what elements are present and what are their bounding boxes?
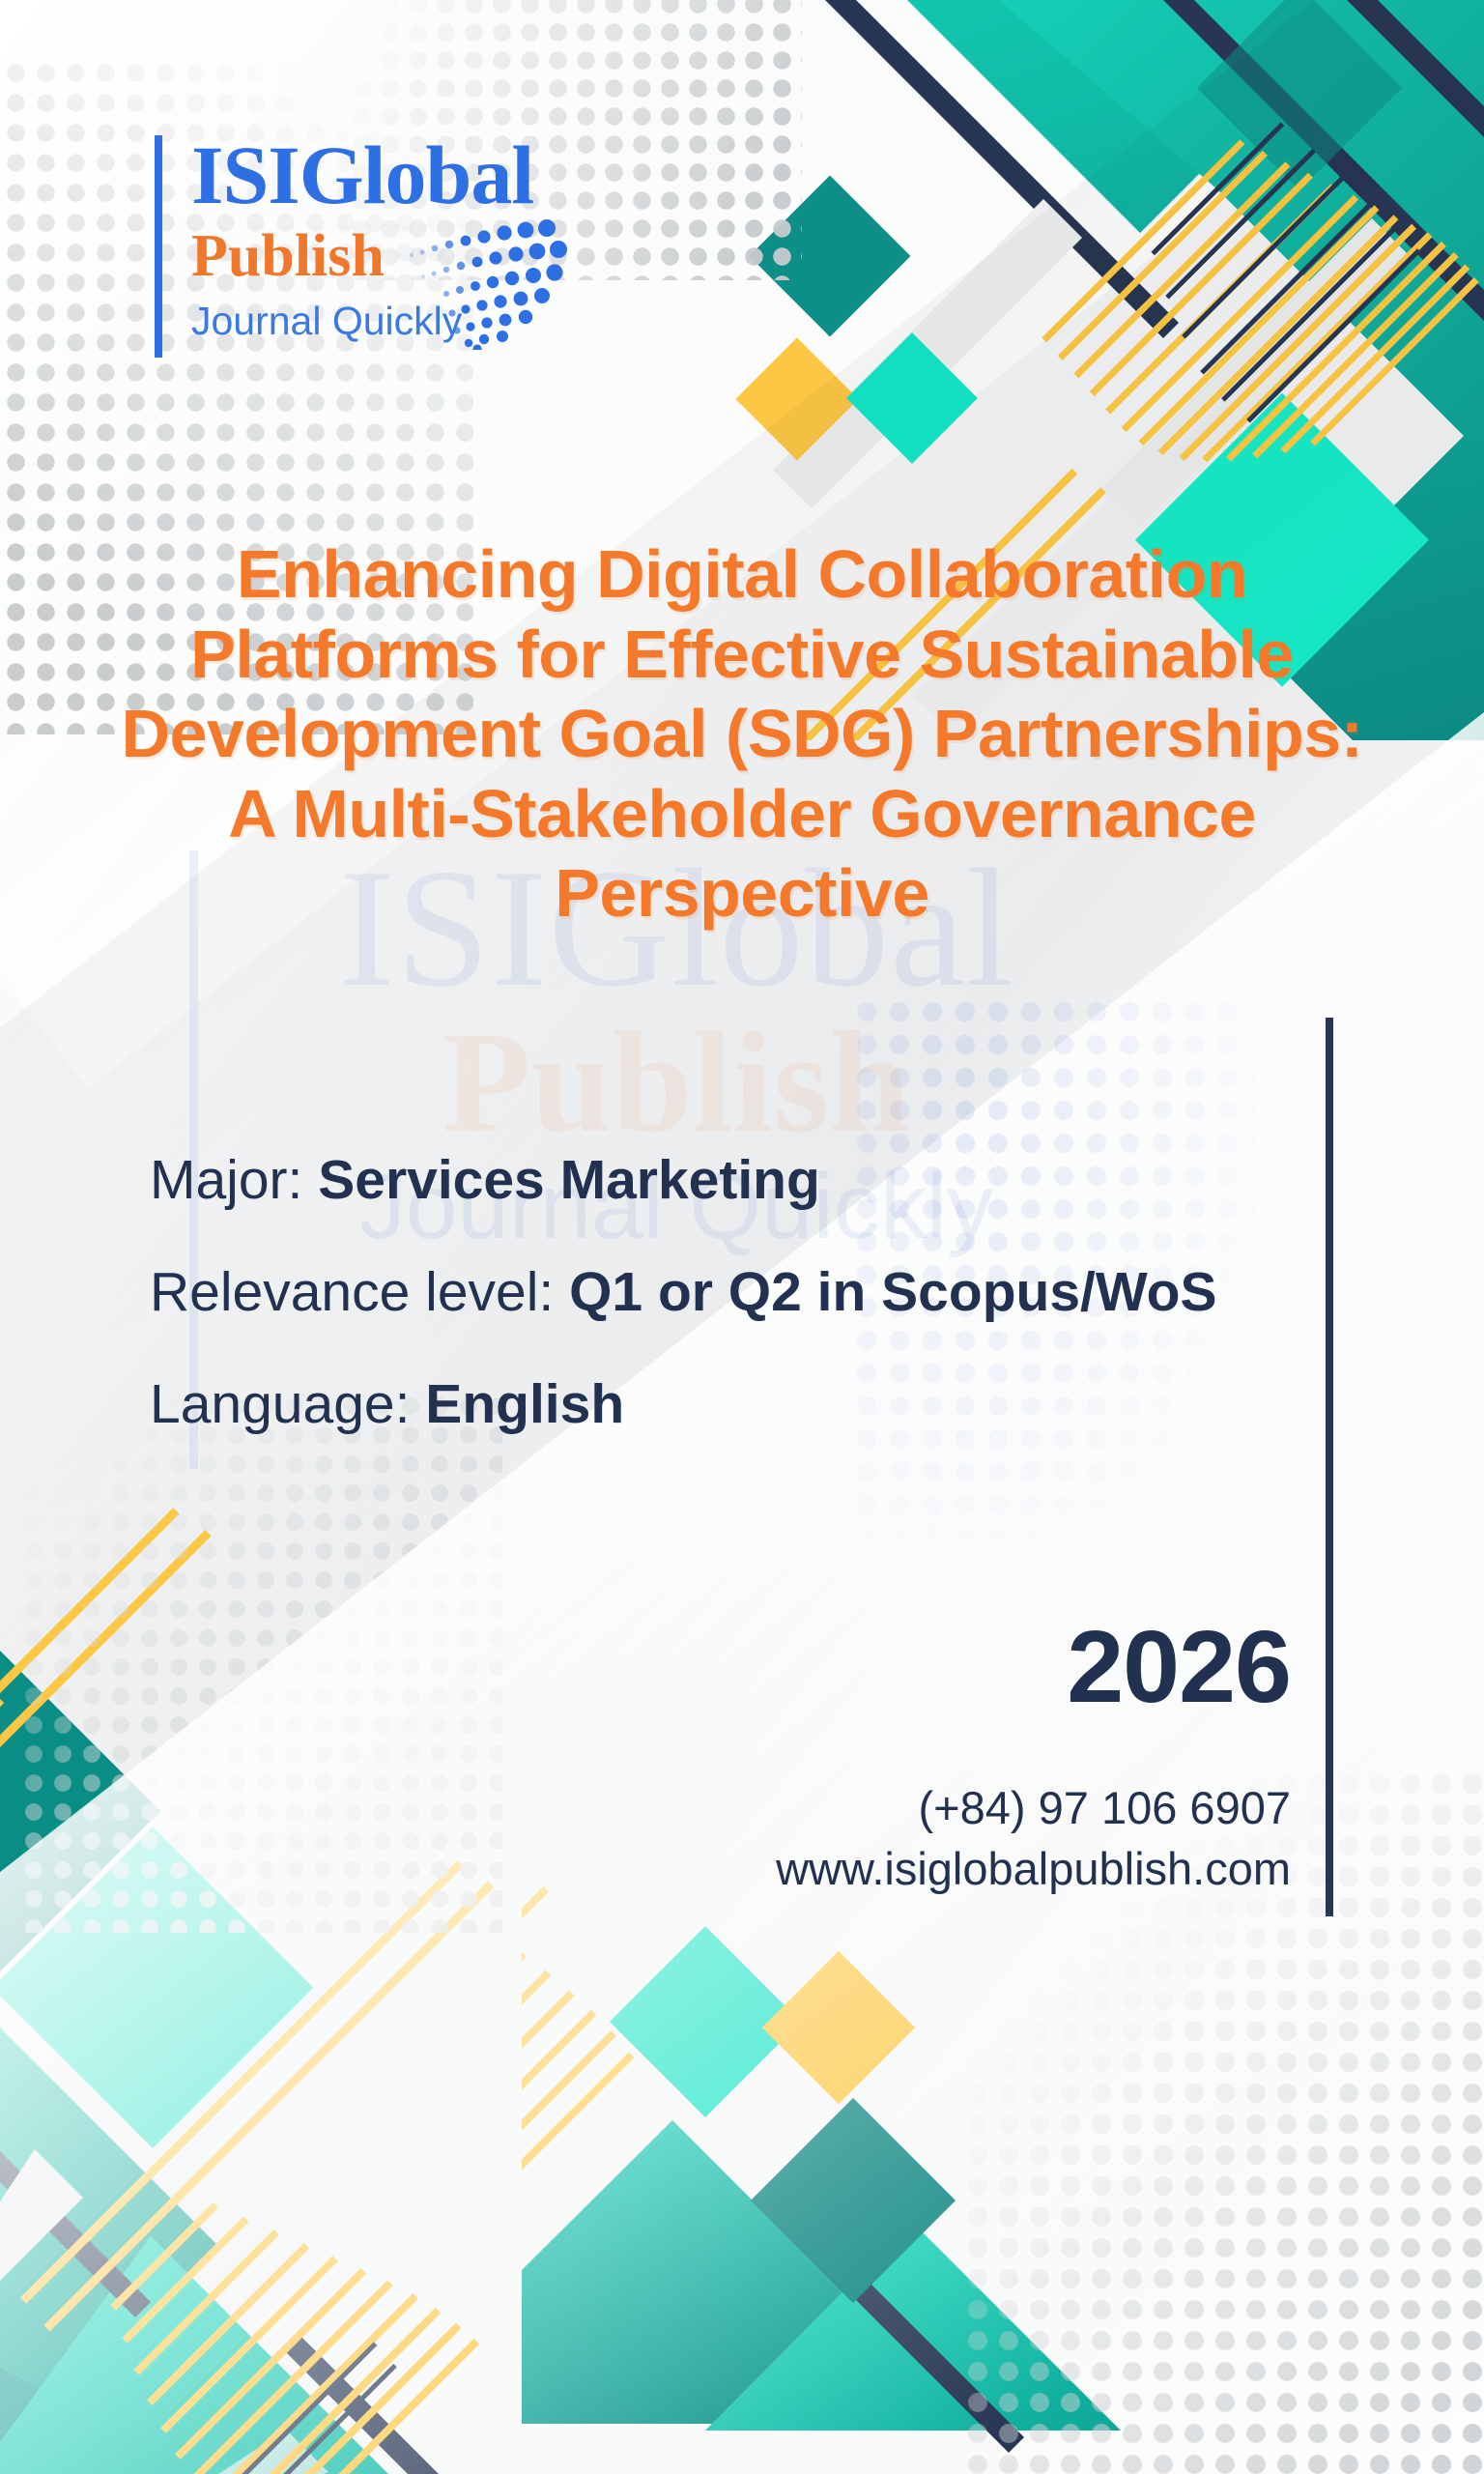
detail-label-relevance: Relevance level: <box>150 1261 554 1323</box>
logo-name-primary: ISIGlobal <box>191 135 533 216</box>
vertical-divider <box>1326 1018 1333 1916</box>
detail-label-language: Language: <box>150 1373 410 1435</box>
detail-value-relevance: Q1 or Q2 in Scopus/WoS <box>569 1261 1216 1323</box>
year-label: 2026 <box>692 1616 1291 1718</box>
contact-block: (+84) 97 106 6907 www.isiglobalpublish.c… <box>614 1778 1291 1900</box>
contact-website[interactable]: www.isiglobalpublish.com <box>614 1839 1291 1900</box>
detail-row-relevance: Relevance level: Q1 or Q2 in Scopus/WoS <box>150 1262 1309 1324</box>
detail-value-language: English <box>425 1373 624 1435</box>
logo-dot-fan-icon <box>385 215 568 350</box>
watermark-line-2: Publish <box>145 1010 1208 1155</box>
logo-accent-bar <box>155 135 162 358</box>
contact-phone[interactable]: (+84) 97 106 6907 <box>614 1778 1291 1839</box>
detail-row-language: Language: English <box>150 1374 1309 1436</box>
detail-value-major: Services Marketing <box>318 1149 820 1211</box>
details-list: Major: Services Marketing Relevance leve… <box>150 1150 1309 1485</box>
bottom-center-geometry <box>522 1879 1256 2474</box>
detail-row-major: Major: Services Marketing <box>150 1150 1309 1212</box>
detail-label-major: Major: <box>150 1149 302 1211</box>
poster-canvas: ISIGlobal Publish Journal Quickly ISIGlo… <box>0 0 1484 2474</box>
article-title: Enhancing Digital Collaboration Platform… <box>106 534 1378 934</box>
